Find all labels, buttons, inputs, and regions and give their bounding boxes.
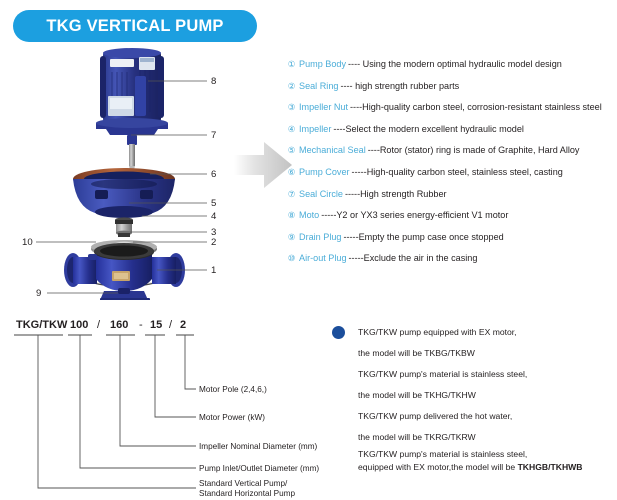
code-token-pole: 2 [180,319,186,331]
callout-label-inlet-dia: Pump Inlet/Outlet Diameter (mm) [199,464,319,473]
callout-2: 2 [211,237,216,248]
legend-label: Drain Plug [299,232,341,242]
variant-line: TKG/TKW pump's material is stainless ste… [358,364,617,385]
legend-label: Impeller Nut [299,102,348,112]
legend-label: Mechanical Seal [299,145,366,155]
variant-line: TKG/TKW pump delivered the hot water, [358,406,617,427]
variant-line: TKG/TKW pump equipped with EX motor, [358,322,617,343]
callout-5: 5 [211,198,216,209]
callout-4: 4 [211,211,217,222]
right-arrow-icon [232,138,294,192]
legend-label: Pump Body [299,59,346,69]
legend-description: ----High-quality carbon steel, corrosion… [350,102,602,112]
legend-number-icon: ⑥ [286,167,297,177]
model-variant-notes: TKG/TKW pump equipped with EX motor, the… [332,322,617,474]
code-separator: - [139,319,143,331]
legend-description: ----Select the modern excellent hydrauli… [333,124,524,134]
legend-label: Moto [299,210,319,220]
bullet-icon [332,326,345,339]
exploded-pump-diagram: 8 7 6 5 4 3 2 1 10 9 [0,48,245,300]
legend-number-icon: ④ [286,124,297,134]
legend-description: ---- high strength rubber parts [340,81,459,91]
legend-item-5: ⑤ Mechanical Seal ----Rotor (stator) rin… [286,145,617,167]
callout-label-standard-2: Standard Horizontal Pump [199,489,295,498]
callout-label-impeller-dia: Impeller Nominal Diameter (mm) [199,442,318,451]
callout-7: 7 [211,130,216,141]
callout-9: 9 [36,288,41,299]
page-title-banner: TKG VERTICAL PUMP [13,10,257,42]
code-separator: / [97,319,101,331]
legend-description: -----Y2 or YX3 series energy-efficient V… [321,210,508,220]
legend-description: -----High-quality carbon steel, stainles… [352,167,563,177]
legend-number-icon: ⑤ [286,145,297,155]
legend-item-4: ④ Impeller ----Select the modern excelle… [286,124,617,146]
variant-line: the model will be TKHG/TKHW [358,385,617,406]
callout-1: 1 [211,265,216,276]
legend-item-1: ① Pump Body ---- Using the modern optima… [286,59,617,81]
legend-item-8: ⑧ Moto -----Y2 or YX3 series energy-effi… [286,210,617,232]
variant-final-model: TKHGB/TKHWB [518,462,583,472]
part-pump-body [64,243,185,300]
legend-description: -----Exclude the air in the casing [349,253,478,263]
code-token-series: TKG/TKW [16,319,68,331]
legend-item-10: ⑩ Air-out Plug -----Exclude the air in t… [286,253,617,275]
code-token-inlet: 100 [70,319,88,331]
legend-label: Seal Circle [299,189,343,199]
legend-item-3: ③ Impeller Nut ----High-quality carbon s… [286,102,617,124]
variant-line-final: equipped with EX motor,the model will be… [358,461,617,474]
legend-label: Air-out Plug [299,253,347,263]
legend-description: -----High strength Rubber [345,189,447,199]
legend-number-icon: ⑩ [286,253,297,263]
callout-6: 6 [211,169,216,180]
part-drain-plug [118,288,130,294]
callout-10: 10 [22,237,33,248]
callout-8: 8 [211,76,216,87]
variant-line: the model will be TKRG/TKRW [358,427,617,448]
legend-number-icon: ⑦ [286,189,297,199]
variant-line: TKG/TKW pump's material is stainless ste… [358,448,617,461]
callout-label-standard-1: Standard Vertical Pump/ [199,479,288,488]
page-title: TKG VERTICAL PUMP [46,17,223,36]
part-pump-cover [73,168,175,218]
legend-item-7: ⑦ Seal Circle -----High strength Rubber [286,189,617,211]
legend-item-6: ⑥ Pump Cover -----High-quality carbon st… [286,167,617,189]
parts-legend-list: ① Pump Body ---- Using the modern optima… [286,59,617,275]
code-token-power: 15 [150,319,162,331]
part-air-out-plug [88,254,97,260]
legend-number-icon: ⑧ [286,210,297,220]
variant-final-prefix: equipped with EX motor,the model will be [358,462,518,472]
part-motor [96,48,168,135]
legend-label: Pump Cover [299,167,350,177]
legend-number-icon: ② [286,81,297,91]
callout-label-motor-pole: Motor Pole (2,4,6,) [199,385,267,394]
legend-description: ----Rotor (stator) ring is made of Graph… [368,145,580,155]
legend-description: -----Empty the pump case once stopped [343,232,503,242]
part-mechanical-seal [115,217,133,237]
legend-item-2: ② Seal Ring ---- high strength rubber pa… [286,81,617,103]
legend-number-icon: ⑨ [286,232,297,242]
variant-line: the model will be TKBG/TKBW [358,343,617,364]
model-code-breakdown: TKG/TKW 100 / 160 - 15 / 2 Motor Pole (2… [0,305,330,500]
legend-number-icon: ③ [286,102,297,112]
legend-item-9: ⑨ Drain Plug -----Empty the pump case on… [286,232,617,254]
legend-label: Seal Ring [299,81,338,91]
code-token-impeller: 160 [110,319,128,331]
legend-number-icon: ① [286,59,297,69]
legend-description: ---- Using the modern optimal hydraulic … [348,59,562,69]
callout-label-motor-power: Motor Power (kW) [199,413,265,422]
legend-label: Impeller [299,124,331,134]
code-separator: / [169,319,173,331]
